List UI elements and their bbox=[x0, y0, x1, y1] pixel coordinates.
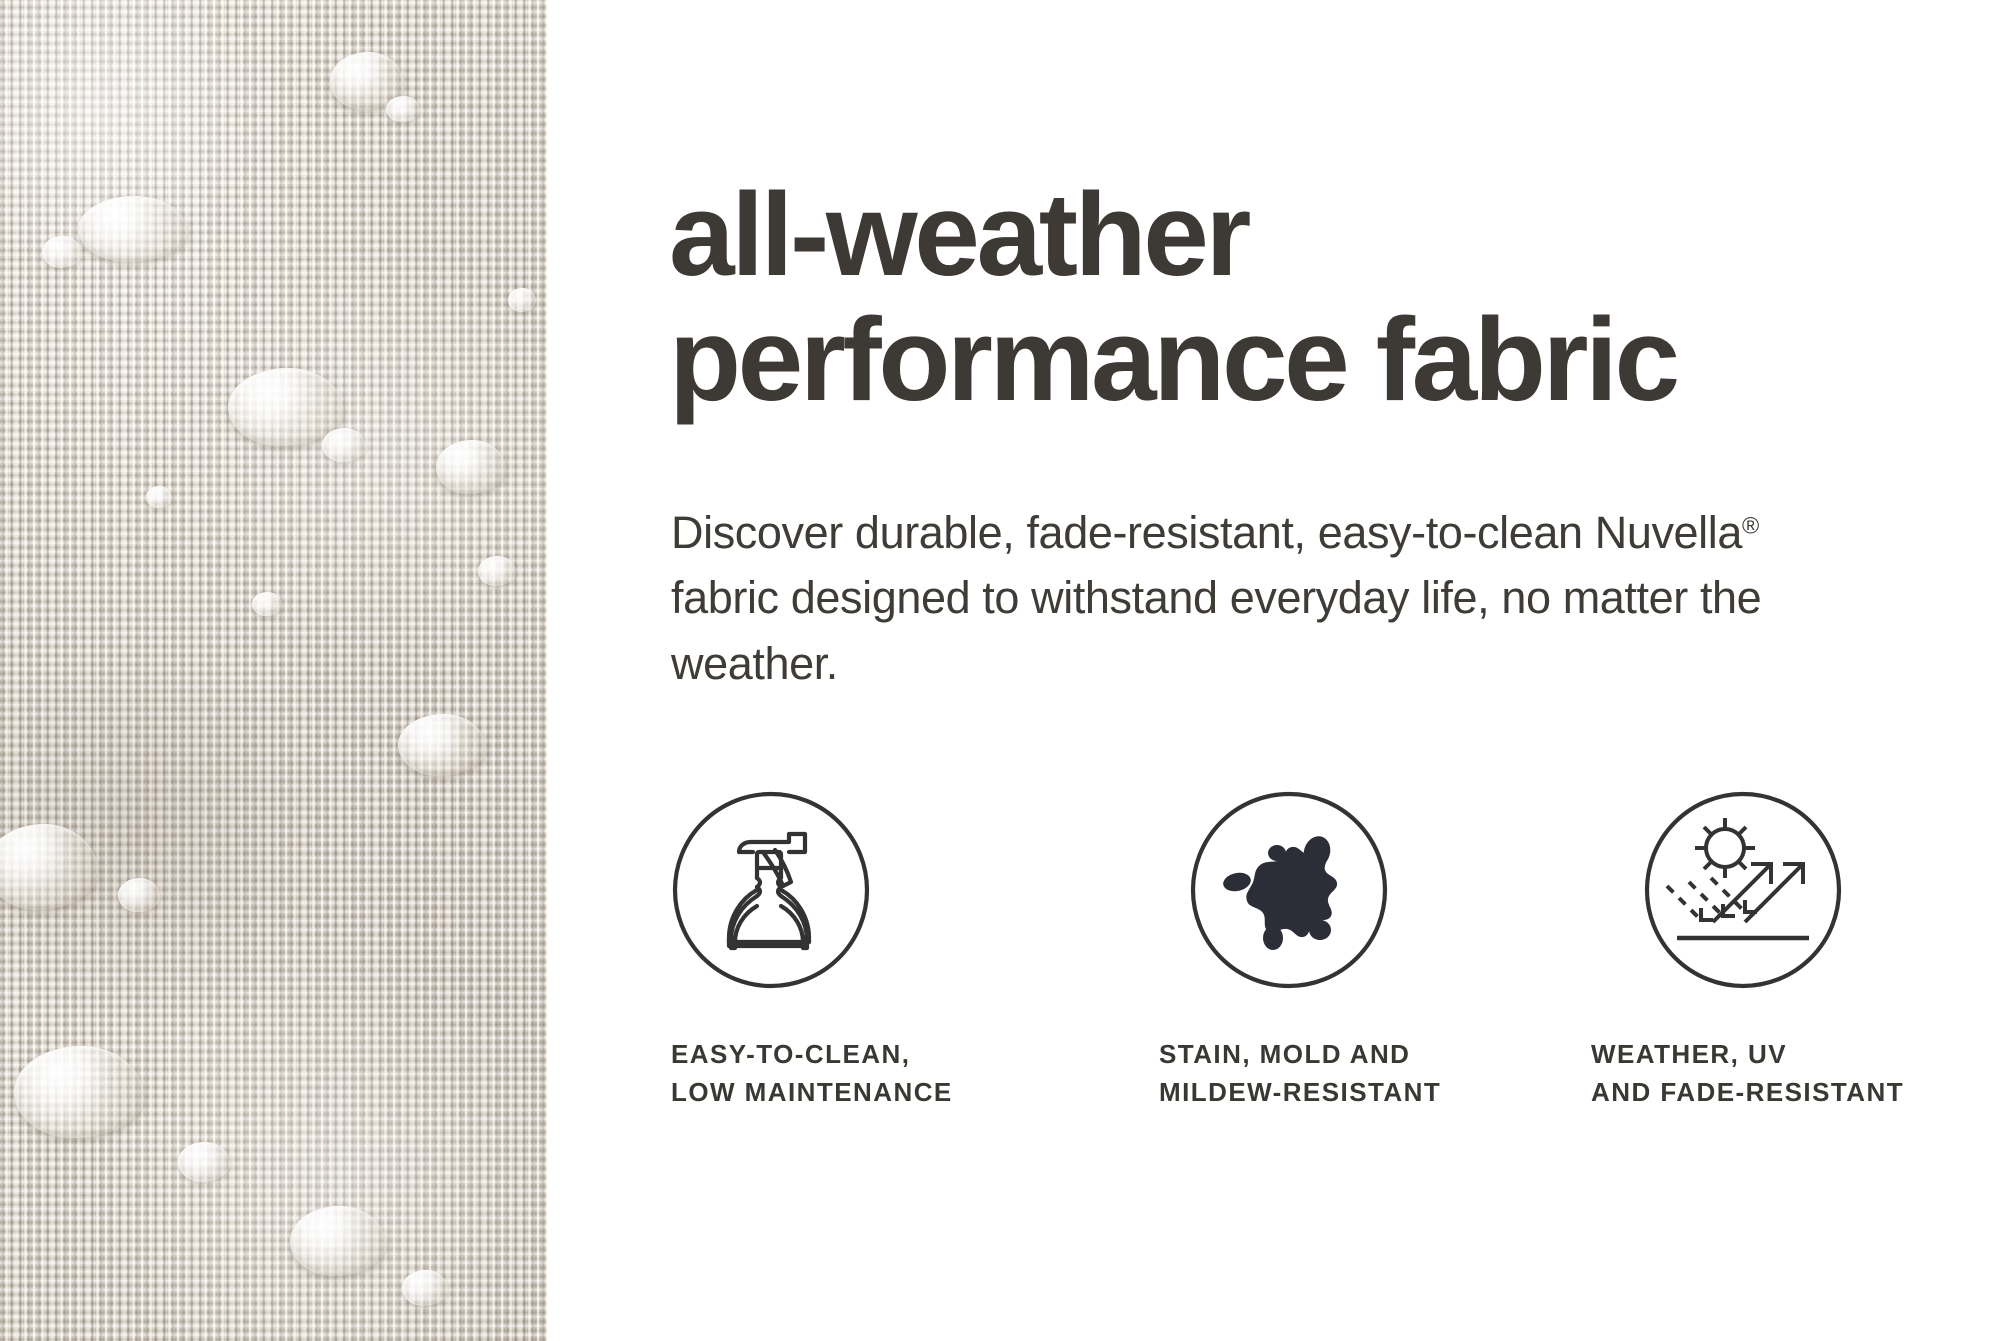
feature-caption: STAIN, MOLD AND MILDEW-RESISTANT bbox=[1159, 1036, 1441, 1112]
all-weather-fabric-banner: all-weatherperformance fabric Discover d… bbox=[0, 0, 2010, 1341]
feature-caption: EASY-TO-CLEAN, LOW MAINTENANCE bbox=[671, 1036, 953, 1112]
feature-item-easy-to-clean: EASY-TO-CLEAN, LOW MAINTENANCE bbox=[671, 790, 1131, 1112]
fabric-weave-texture bbox=[0, 0, 547, 1341]
stain-splat-icon bbox=[1189, 790, 1389, 990]
feature-list: EASY-TO-CLEAN, LOW MAINTENANCE bbox=[671, 790, 2010, 1112]
subcopy-text-before-mark: Discover durable, fade-resistant, easy-t… bbox=[671, 507, 1742, 558]
feature-caption: WEATHER, UV AND FADE-RESISTANT bbox=[1591, 1036, 1904, 1112]
feature-item-stain-resistant: STAIN, MOLD AND MILDEW-RESISTANT bbox=[1131, 790, 1591, 1112]
headline-line-1: all-weather bbox=[669, 169, 1248, 301]
headline-line-2: performance fabric bbox=[669, 294, 1677, 426]
subcopy-paragraph: Discover durable, fade-resistant, easy-t… bbox=[671, 500, 1861, 696]
page-title: all-weatherperformance fabric bbox=[669, 173, 1969, 423]
feature-item-uv-fade-resistant: WEATHER, UV AND FADE-RESISTANT bbox=[1591, 790, 2010, 1112]
spray-bottle-icon bbox=[671, 790, 871, 990]
content-column: all-weatherperformance fabric Discover d… bbox=[547, 0, 2010, 1341]
sun-uv-reflect-icon bbox=[1643, 790, 1843, 990]
fabric-photo bbox=[0, 0, 547, 1341]
subcopy-text-after-mark: fabric designed to withstand everyday li… bbox=[671, 572, 1761, 688]
registered-trademark-icon: ® bbox=[1742, 513, 1759, 539]
